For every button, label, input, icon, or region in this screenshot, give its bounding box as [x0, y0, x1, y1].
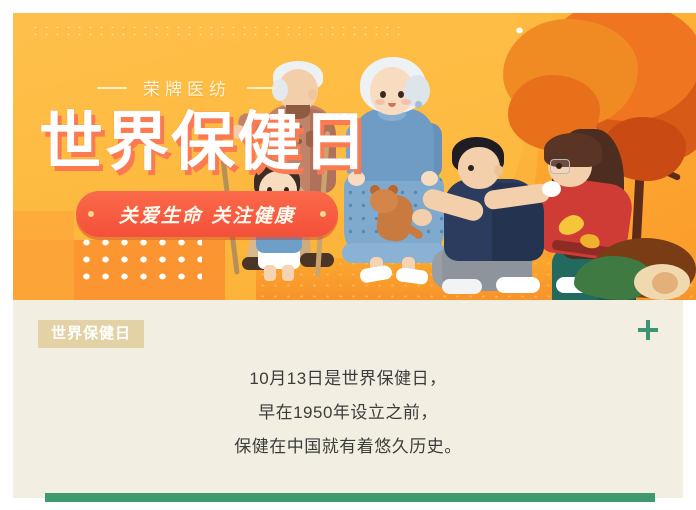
brand-dash-right [247, 87, 277, 89]
crouching-man-shoe-right [496, 277, 540, 293]
section-tag[interactable]: 世界保健日 [38, 320, 144, 348]
crouching-man-ear [494, 165, 503, 176]
body-line: 10月13日是世界保健日， [13, 362, 683, 396]
banner-background-lower-block-accent [13, 211, 74, 300]
banner-brand-line: 荣牌医纺 [13, 75, 361, 100]
cat-head [370, 189, 398, 213]
decorative-dot-grid-bottom-left [77, 234, 202, 286]
banner-brand-text: 荣牌医纺 [143, 80, 231, 99]
banner-slogan-badge: 关爱生命 关注健康 [76, 191, 338, 237]
boy-leg-right [282, 265, 294, 281]
crouching-man-hand-left [412, 209, 432, 226]
hero-banner: 荣牌医纺 世界保健日 关爱生命 关注健康 [13, 13, 696, 300]
banner-title: 世界保健日 [39, 105, 369, 179]
plus-icon[interactable] [638, 320, 658, 340]
crouching-man-eye [468, 165, 474, 171]
body-line: 保健在中国就有着悠久历史。 [13, 430, 683, 464]
elderly-woman-eye-right [398, 91, 404, 98]
crouching-man-hand-right [542, 181, 561, 197]
banner-slogan-text: 关爱生命 关注健康 [76, 191, 338, 237]
content-panel: 世界保健日 10月13日是世界保健日， 早在1950年设立之前， 保健在中国就有… [13, 300, 683, 498]
body-line: 早在1950年设立之前， [13, 396, 683, 430]
brand-dash-left [97, 87, 127, 89]
bottom-divider-bar [45, 493, 655, 502]
elderly-woman-hand-right [421, 171, 438, 186]
elderly-woman-cheek-left [375, 99, 385, 105]
bush-accent [652, 272, 678, 294]
elderly-woman-earring [415, 101, 422, 108]
crouching-man-shoe-left [442, 279, 482, 294]
elderly-woman-cheek-right [401, 99, 411, 105]
elderly-woman-eye-left [380, 91, 386, 98]
body-text-block: 10月13日是世界保健日， 早在1950年设立之前， 保健在中国就有着悠久历史。 [13, 362, 683, 464]
boy-leg-left [264, 265, 276, 281]
elderly-woman-skirt-hem [342, 243, 446, 263]
page-root: 荣牌医纺 世界保健日 关爱生命 关注健康 世界保健日 10月13日是世界保健日，… [0, 0, 696, 510]
woman-eye [556, 163, 562, 169]
